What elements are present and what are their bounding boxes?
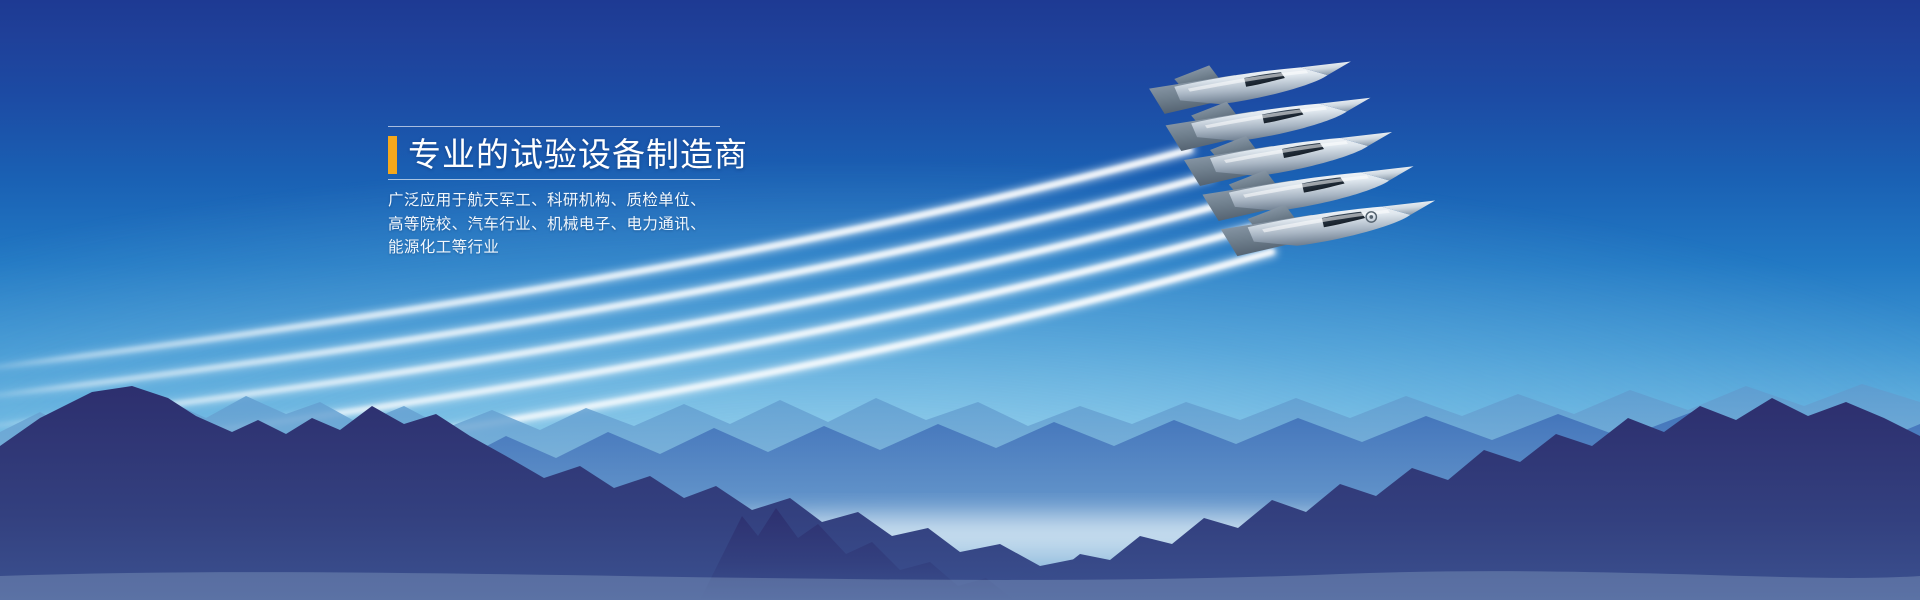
page-title: 专业的试验设备制造商 (408, 136, 748, 174)
mountain-range (0, 340, 1920, 600)
banner-subtitle: 广泛应用于航天军工、科研机构、质检单位、 高等院校、汽车行业、机械电子、电力通讯… (388, 189, 728, 260)
hero-banner: 专业的试验设备制造商 广泛应用于航天军工、科研机构、质检单位、 高等院校、汽车行… (0, 0, 1920, 600)
subtitle-line-3: 能源化工等行业 (388, 236, 728, 260)
headline-row: 专业的试验设备制造商 (388, 136, 728, 174)
headline-rule-top (388, 126, 720, 127)
jet-formation (1118, 46, 1508, 276)
subtitle-line-2: 高等院校、汽车行业、机械电子、电力通讯、 (388, 213, 728, 237)
subtitle-line-1: 广泛应用于航天军工、科研机构、质检单位、 (388, 189, 728, 213)
accent-bar-icon (388, 136, 397, 174)
headline-rule-bottom (388, 179, 720, 180)
banner-copy: 专业的试验设备制造商 广泛应用于航天军工、科研机构、质检单位、 高等院校、汽车行… (388, 126, 728, 260)
